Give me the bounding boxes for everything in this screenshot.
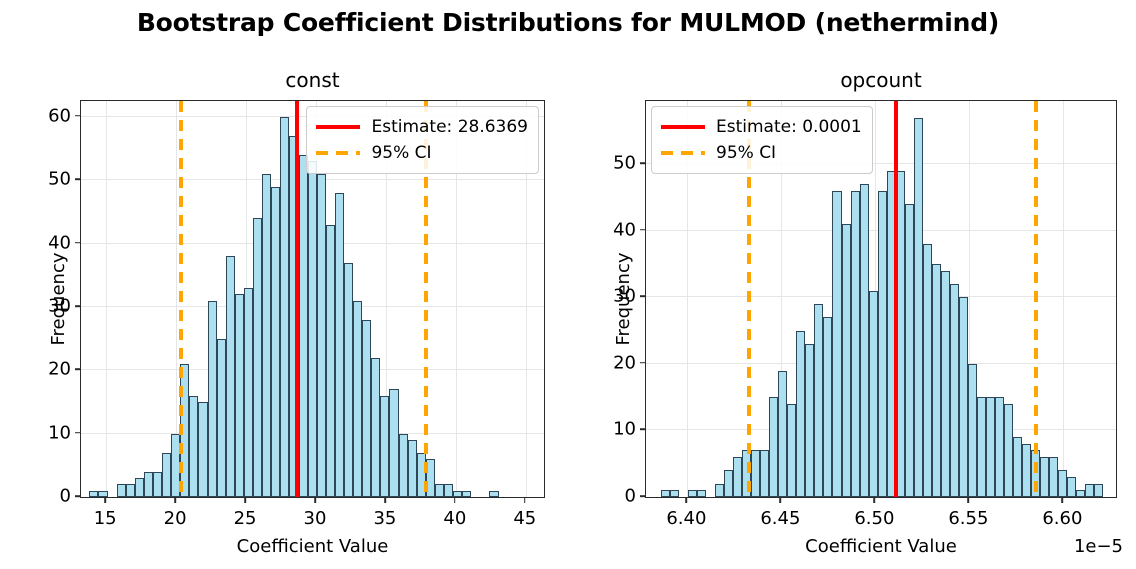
histogram-bar (1094, 484, 1103, 497)
x-tick-label: 35 (373, 508, 396, 529)
y-tick-label: 40 (48, 232, 71, 253)
y-tick-mark (75, 432, 80, 434)
legend-opcount: Estimate: 0.000195% CI (651, 106, 873, 174)
legend-entry-label: 95% CI (371, 145, 431, 162)
x-tick-label: 15 (94, 508, 117, 529)
x-tick-mark (874, 498, 876, 503)
histogram-bar (353, 301, 362, 497)
histogram-bar (198, 402, 207, 497)
histogram-bar (489, 491, 498, 497)
histogram-bar (308, 161, 317, 497)
histogram-bar (235, 294, 244, 497)
histogram-bar (435, 484, 444, 497)
y-tick-label: 60 (48, 105, 71, 126)
histogram-bar (760, 450, 769, 497)
histogram-bar (787, 404, 796, 497)
histogram-bar (217, 339, 226, 497)
x-tick-mark (1062, 498, 1064, 503)
histogram-bar (344, 263, 353, 497)
y-tick-mark (640, 495, 645, 497)
histogram-bar (905, 204, 914, 497)
legend-entry-label: 95% CI (716, 145, 776, 162)
figure-suptitle: Bootstrap Coefficient Distributions for … (0, 8, 1136, 37)
x-axis-label-opcount: Coefficient Value (645, 536, 1117, 557)
x-tick-mark (244, 498, 246, 503)
y-tick-label: 0 (625, 486, 636, 507)
x-tick-label: 6.50 (854, 508, 894, 529)
x-tick-label: 30 (304, 508, 327, 529)
histogram-bar (380, 396, 389, 497)
legend-solid-line-icon (316, 125, 360, 129)
legend-entry: 95% CI (316, 140, 528, 166)
figure-canvas: Bootstrap Coefficient Distributions for … (0, 0, 1136, 569)
y-tick-label: 40 (613, 219, 636, 240)
subplot-opcount: opcount Frequency Coefficient Value 1e−5… (645, 100, 1117, 498)
histogram-bar (805, 344, 814, 497)
histogram-bar (697, 490, 706, 497)
confidence-interval-line (1034, 101, 1038, 497)
x-tick-mark (524, 498, 526, 503)
histogram-bar (968, 364, 977, 497)
x-tick-mark (454, 498, 456, 503)
y-tick-label: 0 (60, 486, 71, 507)
y-tick-mark (75, 305, 80, 307)
y-tick-label: 50 (613, 153, 636, 174)
x-tick-mark (104, 498, 106, 503)
subplot-title-opcount: opcount (645, 68, 1117, 92)
histogram-bar (1022, 444, 1031, 497)
histogram-bar (1076, 490, 1085, 497)
histogram-bar (832, 191, 841, 497)
x-tick-mark (686, 498, 688, 503)
legend-entry: 95% CI (661, 140, 862, 166)
histogram-bar (869, 291, 878, 497)
histogram-bar (860, 184, 869, 497)
x-tick-label: 45 (513, 508, 536, 529)
legend-entry-label: Estimate: 28.6369 (371, 119, 528, 136)
histogram-bar (244, 288, 253, 497)
histogram-bar (1049, 457, 1058, 497)
x-tick-label: 6.40 (666, 508, 706, 529)
x-tick-label: 6.55 (948, 508, 988, 529)
legend-entry-label: Estimate: 0.0001 (716, 119, 862, 136)
legend-dashed-line-icon (661, 151, 705, 155)
histogram-bar (208, 301, 217, 497)
estimate-line (894, 101, 898, 497)
histogram-bar (226, 256, 235, 497)
histogram-bar (796, 331, 805, 497)
y-tick-label: 50 (48, 169, 71, 190)
histogram-bar (932, 264, 941, 497)
x-tick-label: 40 (443, 508, 466, 529)
histogram-bar (959, 297, 968, 497)
y-tick-label: 30 (613, 286, 636, 307)
legend-const: Estimate: 28.636995% CI (306, 106, 539, 174)
histogram-bar (1013, 437, 1022, 497)
histogram-bar (162, 453, 171, 497)
histogram-bar (814, 304, 823, 497)
histogram-bar (153, 472, 162, 497)
histogram-bar (823, 317, 832, 497)
y-tick-label: 20 (48, 359, 71, 380)
gridline-vertical (1063, 101, 1064, 497)
histogram-bar (688, 490, 697, 497)
histogram-bar (778, 371, 787, 497)
histogram-bar (724, 470, 733, 497)
legend-entry: Estimate: 0.0001 (661, 114, 862, 140)
histogram-bar (751, 450, 760, 497)
y-tick-label: 30 (48, 295, 71, 316)
histogram-bar (317, 174, 326, 497)
histogram-bar (98, 491, 107, 497)
y-tick-mark (75, 178, 80, 180)
x-tick-mark (314, 498, 316, 503)
histogram-bar (715, 484, 724, 497)
histogram-bar (253, 218, 262, 497)
histogram-bar (389, 389, 398, 497)
x-axis-offset-opcount: 1e−5 (1074, 536, 1123, 557)
x-tick-mark (174, 498, 176, 503)
histogram-bar (923, 244, 932, 497)
histogram-bar (769, 397, 778, 497)
x-axis-label-const: Coefficient Value (80, 536, 545, 557)
histogram-bar (144, 472, 153, 497)
histogram-bar (326, 225, 335, 497)
y-tick-mark (640, 229, 645, 231)
histogram-bar (1004, 404, 1013, 497)
subplot-const: const Frequency Coefficient Value Estima… (80, 100, 545, 498)
histogram-bar (1067, 477, 1076, 497)
histogram-bar (262, 174, 271, 497)
subplot-title-const: const (80, 68, 545, 92)
gridline-vertical (106, 101, 107, 497)
histogram-bar (408, 440, 417, 497)
y-tick-mark (640, 162, 645, 164)
histogram-bar (189, 396, 198, 497)
histogram-bar (661, 490, 670, 497)
histogram-bar (977, 397, 986, 497)
histogram-bar (995, 397, 1004, 497)
x-tick-label: 25 (234, 508, 257, 529)
histogram-bar (335, 193, 344, 497)
legend-entry: Estimate: 28.6369 (316, 114, 528, 140)
histogram-bar (1040, 457, 1049, 497)
x-tick-mark (384, 498, 386, 503)
histogram-bar (271, 187, 280, 497)
x-tick-label: 6.45 (760, 508, 800, 529)
legend-dashed-line-icon (316, 151, 360, 155)
y-tick-label: 10 (613, 419, 636, 440)
histogram-bar (362, 320, 371, 497)
histogram-bar (299, 155, 308, 497)
histogram-bar (851, 191, 860, 497)
histogram-bar (280, 117, 289, 497)
y-tick-mark (75, 242, 80, 244)
estimate-line (295, 101, 299, 497)
histogram-bar (399, 434, 408, 497)
y-tick-mark (75, 368, 80, 370)
y-tick-mark (640, 362, 645, 364)
x-tick-mark (968, 498, 970, 503)
histogram-bar (117, 484, 126, 497)
x-tick-label: 6.60 (1042, 508, 1082, 529)
histogram-bar (453, 491, 462, 497)
histogram-bar (950, 284, 959, 497)
histogram-bar (733, 457, 742, 497)
histogram-bar (89, 491, 98, 497)
histogram-bar (1085, 484, 1094, 497)
x-tick-label: 20 (164, 508, 187, 529)
y-tick-mark (640, 429, 645, 431)
y-tick-label: 10 (48, 422, 71, 443)
histogram-bar (914, 118, 923, 497)
histogram-bar (941, 271, 950, 497)
y-tick-label: 20 (613, 352, 636, 373)
histogram-bar (1058, 470, 1067, 497)
confidence-interval-line (179, 101, 183, 497)
histogram-bar (371, 358, 380, 497)
histogram-bar (670, 490, 679, 497)
histogram-bar (126, 484, 135, 497)
histogram-bar (986, 397, 995, 497)
histogram-bar (462, 491, 471, 497)
legend-solid-line-icon (661, 125, 705, 129)
y-tick-mark (75, 495, 80, 497)
histogram-bar (842, 224, 851, 497)
histogram-bar (135, 478, 144, 497)
histogram-bar (878, 191, 887, 497)
histogram-bar (444, 484, 453, 497)
y-tick-mark (640, 296, 645, 298)
x-tick-mark (780, 498, 782, 503)
y-tick-mark (75, 115, 80, 117)
